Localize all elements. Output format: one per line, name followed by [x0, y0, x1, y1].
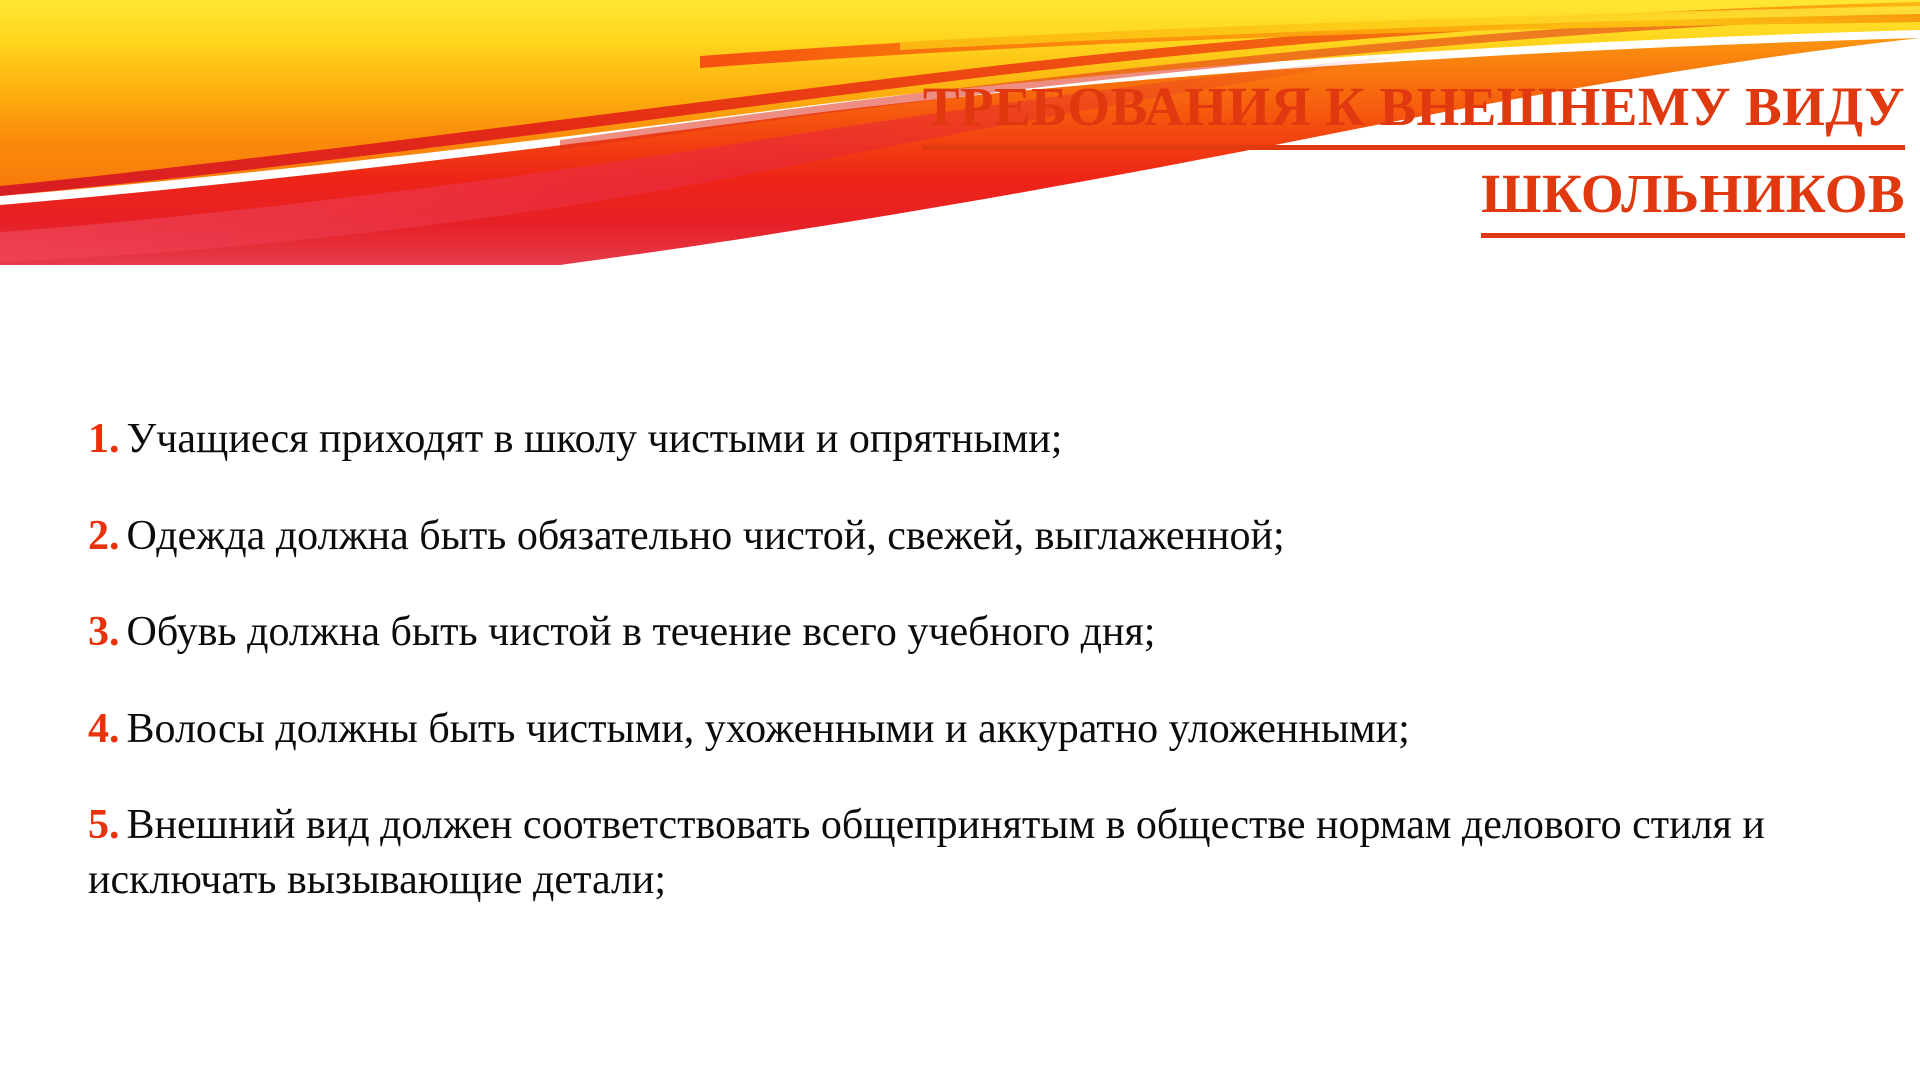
list-item-text: Учащиеся приходят в школу чистыми и опря…	[127, 416, 1063, 462]
requirements-list: 1.Учащиеся приходят в школу чистыми и оп…	[88, 370, 1848, 908]
list-item-number: 5.	[88, 802, 120, 848]
list-item-text: Волосы должны быть чистыми, ухоженными и…	[127, 706, 1410, 752]
slide-title: ТРЕБОВАНИЯ К ВНЕШНЕМУ ВИДУ ШКОЛЬНИКОВ	[560, 72, 1905, 238]
list-item-text: Одежда должна быть обязательно чистой, с…	[127, 513, 1285, 559]
list-item: 3.Обувь должна быть чистой в течение все…	[88, 605, 1848, 660]
list-item-text: Обувь должна быть чистой в течение всего…	[127, 609, 1156, 655]
list-item-text: Внешний вид должен соответствовать общеп…	[88, 802, 1765, 903]
list-item-number: 4.	[88, 706, 120, 752]
list-item: 4.Волосы должны быть чистыми, ухоженными…	[88, 702, 1468, 757]
list-item-number: 3.	[88, 609, 120, 655]
list-item: 1.Учащиеся приходят в школу чистыми и оп…	[88, 412, 1848, 467]
list-item-number: 1.	[88, 416, 120, 462]
slide-title-line-2: ШКОЛЬНИКОВ	[1481, 159, 1905, 237]
slide-title-line-1: ТРЕБОВАНИЯ К ВНЕШНЕМУ ВИДУ	[923, 72, 1905, 150]
wave-ribbon-top	[700, 10, 1920, 68]
list-item: 2.Одежда должна быть обязательно чистой,…	[88, 509, 1848, 564]
wave-ribbon-top-2	[900, 6, 1920, 50]
list-item: 5.Внешний вид должен соответствовать общ…	[88, 798, 1833, 907]
list-item-number: 2.	[88, 513, 120, 559]
